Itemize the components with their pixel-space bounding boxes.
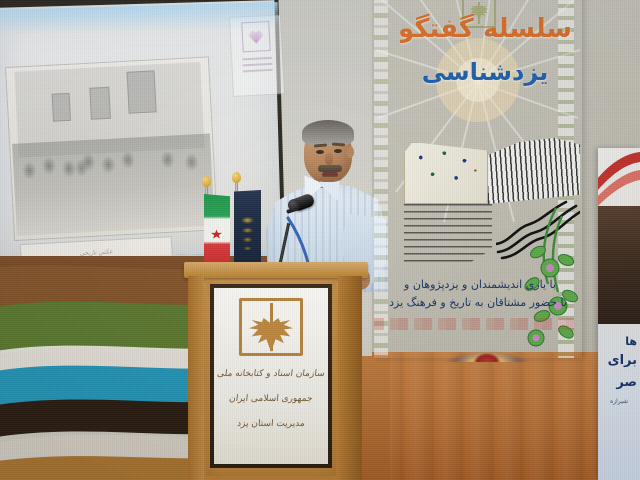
speaker-eye-right <box>334 149 342 153</box>
slide-historical-photo <box>6 58 217 240</box>
flag-finial-left <box>202 176 211 187</box>
secondary-banner-line-2: برای <box>598 352 640 370</box>
speaker-hair <box>302 120 354 146</box>
banner-body-line-1: با یاری اندیشمندان و یزدپژوهان و <box>386 276 574 294</box>
organization-flag <box>234 190 261 268</box>
microphone-windscreen-icon <box>288 199 300 211</box>
speaker-nose <box>325 153 333 165</box>
secondary-banner-line-4: شیرازه <box>598 396 640 408</box>
secondary-banner-image-area <box>598 206 640 324</box>
banner-title-line-1: سلسله گفتگوهای <box>400 6 572 52</box>
flag-finial-right <box>232 172 241 183</box>
banner-body-line-2: با حضور مشتاقان به تاریخ و فرهنگ یزد <box>382 294 574 312</box>
podium-sign-text: سازمان اسناد و کتابخانه ملی جمهوری اسلام… <box>223 370 319 429</box>
banner-title-line-2: یزدشناسی <box>396 52 574 92</box>
red-swoosh-icon <box>598 148 640 208</box>
speaker-chin <box>318 176 342 182</box>
podium-right-edge <box>338 276 362 480</box>
iran-national-flag <box>204 194 230 268</box>
photograph-scene: عکس تاریخی <box>0 0 640 480</box>
speaker-eye-left <box>316 150 324 154</box>
book-page-fanned <box>488 138 580 204</box>
banner-bottom-rule <box>374 318 574 330</box>
book-page-mosaic <box>404 142 488 204</box>
library-emblem-icon <box>239 298 303 356</box>
podium-left-edge <box>188 276 204 480</box>
photo-crowd-of-people <box>12 134 215 236</box>
slide-logo-text-lines <box>242 57 273 73</box>
secondary-banner-line-1: ها <box>598 334 640 350</box>
secondary-banner-line-3: صر <box>598 374 640 392</box>
podium-sign-line-1: سازمان اسناد و کتابخانه ملی <box>217 370 325 379</box>
podium-sign-line-3: مدیریت استان یزد <box>237 420 306 429</box>
podium-sign: سازمان اسناد و کتابخانه ملی جمهوری اسلام… <box>214 288 328 464</box>
book-calligraphy-block <box>404 204 492 262</box>
banner-floral-medallion <box>418 334 556 362</box>
secondary-banner-swoosh <box>598 148 640 208</box>
speaker-ear <box>346 146 354 158</box>
speaker-mustache <box>318 165 342 172</box>
podium-sign-line-2: جمهوری اسلامی ایران <box>229 395 313 404</box>
